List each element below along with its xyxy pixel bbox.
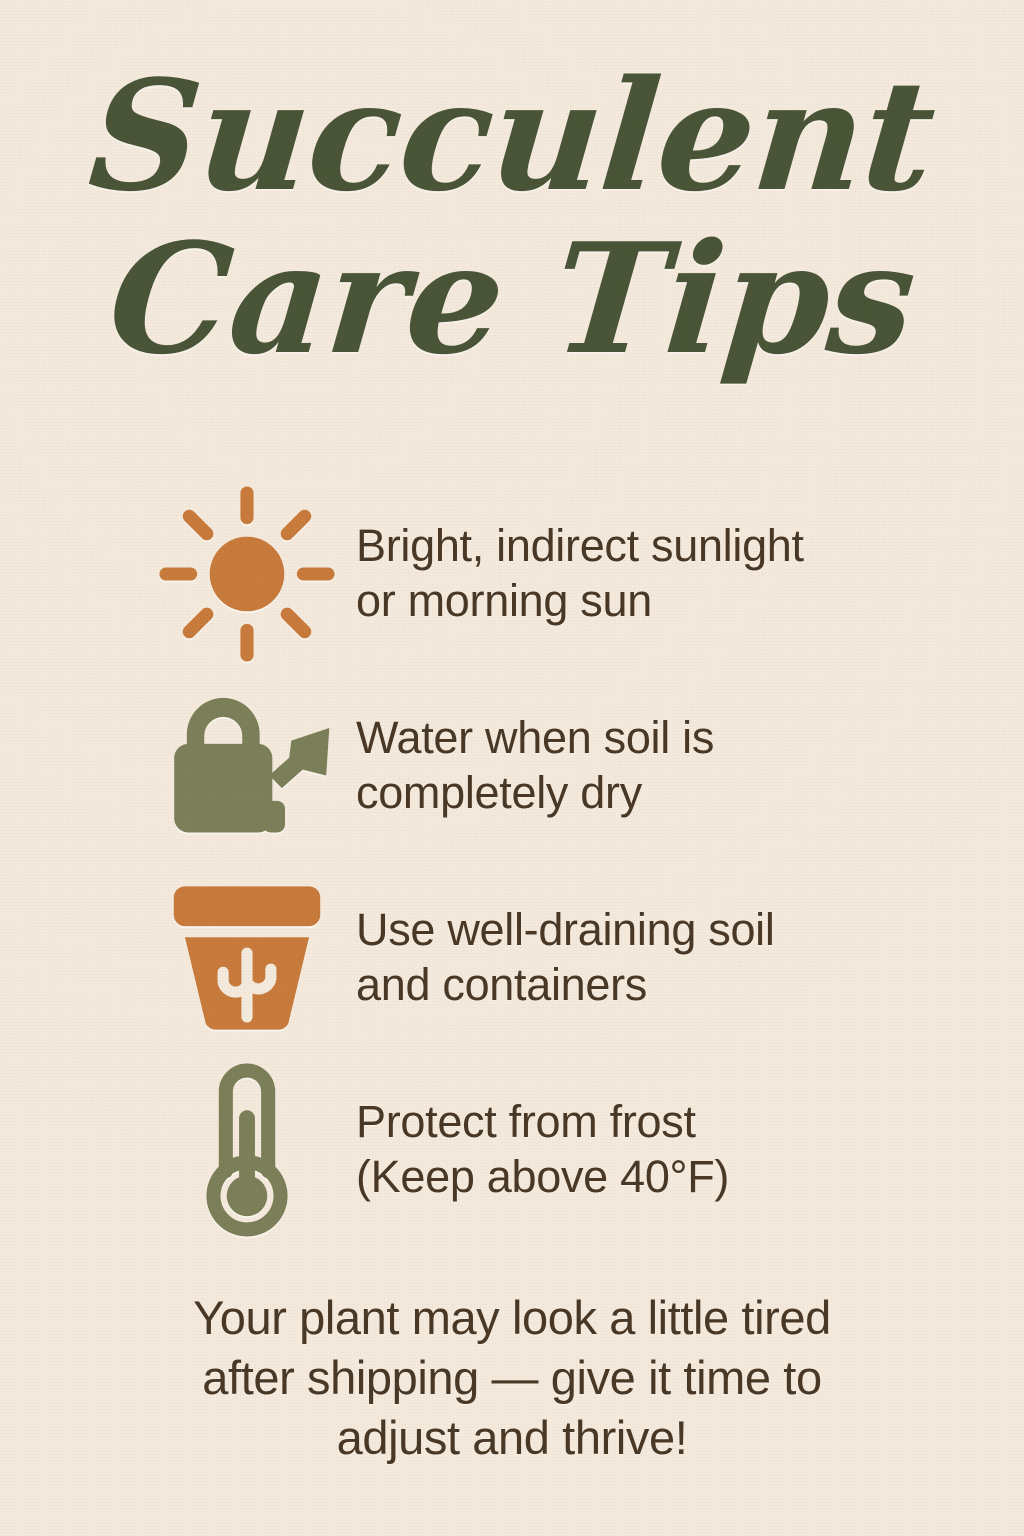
tip-sunlight-line-2: or morning sun bbox=[356, 574, 804, 629]
tips-list: Bright, indirect sunlight or morning sun bbox=[0, 478, 1024, 1246]
tip-row-soil: Use well-draining soil and containers bbox=[0, 862, 1024, 1054]
plant-pot-cactus-icon bbox=[138, 869, 356, 1047]
tip-row-sunlight: Bright, indirect sunlight or morning sun bbox=[0, 478, 1024, 670]
tip-text-frost: Protect from frost (Keep above 40°F) bbox=[356, 1095, 729, 1205]
watering-can-icon bbox=[138, 677, 356, 855]
title-line-1: Succulent bbox=[0, 62, 1024, 211]
tip-soil-line-2: and containers bbox=[356, 958, 775, 1013]
footer-line-3: adjust and thrive! bbox=[0, 1408, 1024, 1468]
tip-watering-line-2: completely dry bbox=[356, 766, 714, 821]
tip-sunlight-line-1: Bright, indirect sunlight bbox=[356, 519, 804, 574]
footer-note: Your plant may look a little tired after… bbox=[0, 1288, 1024, 1468]
footer-line-2: after shipping — give it time to bbox=[0, 1348, 1024, 1408]
thermometer-icon bbox=[138, 1061, 356, 1239]
tip-text-watering: Water when soil is completely dry bbox=[356, 711, 714, 821]
tip-watering-line-1: Water when soil is bbox=[356, 711, 714, 766]
sun-icon bbox=[138, 485, 356, 663]
page-title: Succulent Care Tips bbox=[0, 62, 1024, 374]
footer-line-1: Your plant may look a little tired bbox=[0, 1288, 1024, 1348]
tip-row-frost: Protect from frost (Keep above 40°F) bbox=[0, 1054, 1024, 1246]
title-line-2: Care Tips bbox=[0, 225, 1024, 374]
tip-frost-line-2: (Keep above 40°F) bbox=[356, 1150, 729, 1205]
tip-frost-line-1: Protect from frost bbox=[356, 1095, 729, 1150]
tip-text-soil: Use well-draining soil and containers bbox=[356, 903, 775, 1013]
tip-text-sunlight: Bright, indirect sunlight or morning sun bbox=[356, 519, 804, 629]
tip-row-watering: Water when soil is completely dry bbox=[0, 670, 1024, 862]
tip-soil-line-1: Use well-draining soil bbox=[356, 903, 775, 958]
poster-canvas: Succulent Care Tips bbox=[0, 0, 1024, 1536]
